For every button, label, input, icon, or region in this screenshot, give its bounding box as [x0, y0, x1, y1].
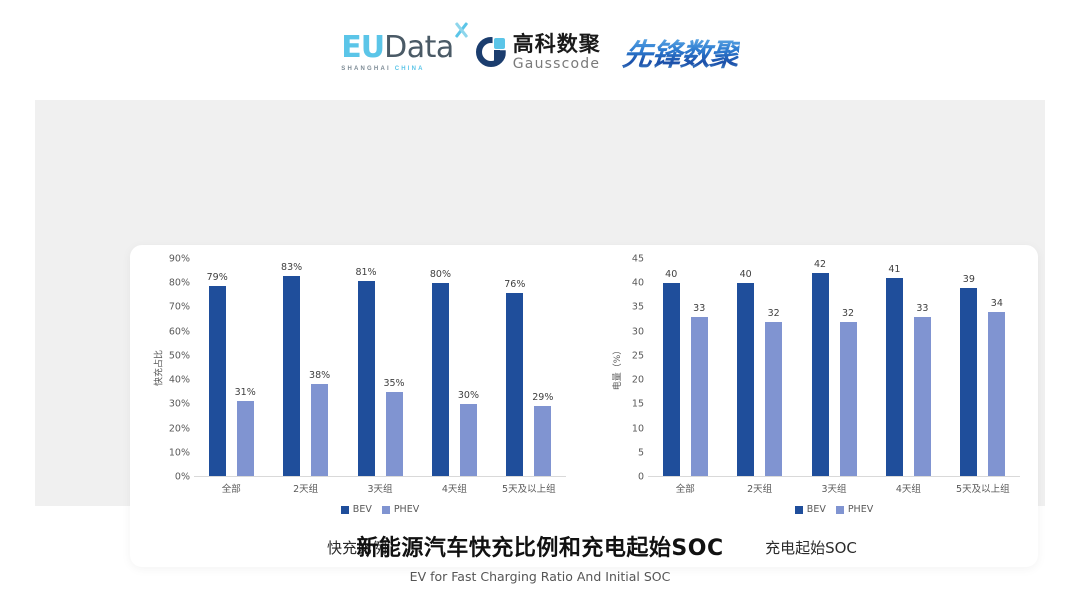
chart-0-legend: BEVPHEV [194, 504, 566, 515]
evdata-tagline-country: CHINA [395, 66, 425, 72]
bar-rect [237, 401, 254, 476]
bar-value-label: 29% [532, 392, 553, 403]
y-axis-tick: 25 [632, 350, 644, 361]
y-axis-tick: 40% [169, 375, 190, 386]
x-axis-tick: 2天组 [722, 481, 796, 495]
bar-value-label: 32 [768, 308, 780, 319]
bar-bev[interactable]: 39 [960, 259, 977, 476]
x-axis-tick: 3天组 [343, 481, 417, 495]
y-axis-tick: 0% [175, 472, 190, 483]
bar-value-label: 76% [504, 279, 525, 290]
bar-phev[interactable]: 32 [840, 259, 857, 476]
bar-value-label: 39 [963, 274, 975, 285]
bar-value-label: 40 [740, 269, 752, 280]
legend-swatch-icon [382, 506, 390, 514]
legend-label: PHEV [394, 504, 419, 515]
bar-rect [386, 392, 403, 476]
bar-phev[interactable]: 35% [386, 259, 403, 476]
page-title: 新能源汽车快充比例和充电起始SOC [0, 530, 1080, 562]
bar-rect [914, 317, 931, 476]
charts-container: 快充占比 90%80%70%60%50%40%30%20%10%0% 79%31… [130, 245, 1038, 567]
bar-group: 4232 [797, 259, 871, 476]
x-axis-tick: 4天组 [871, 481, 945, 495]
y-axis-tick: 35 [632, 302, 644, 313]
charts-card: 快充占比 90%80%70%60%50%40%30%20%10%0% 79%31… [130, 245, 1038, 567]
chart-1-legend: BEVPHEV [648, 504, 1020, 515]
chart-1-x-axis-ticks: 全部2天组3天组4天组5天及以上组 [648, 481, 1020, 495]
y-axis-tick: 15 [632, 399, 644, 410]
bar-rect [988, 312, 1005, 476]
chart-1-plot-area: 电量（%） 454035302520151050 403340324232413… [584, 259, 1038, 477]
evdata-tagline: SHANGHAI CHINA [341, 66, 424, 72]
bar-value-label: 34 [991, 298, 1003, 309]
x-axis-tick: 2天组 [268, 481, 342, 495]
bar-value-label: 33 [916, 303, 928, 314]
bar-group: 4033 [648, 259, 722, 476]
x-axis-tick: 全部 [648, 481, 722, 495]
bar-group: 83%38% [268, 259, 342, 476]
bar-group: 3934 [946, 259, 1020, 476]
bar-phev[interactable]: 30% [460, 259, 477, 476]
y-axis-tick: 10% [169, 447, 190, 458]
bar-value-label: 41 [888, 264, 900, 275]
bar-rect [311, 384, 328, 476]
bar-bev[interactable]: 40 [737, 259, 754, 476]
bar-value-label: 33 [693, 303, 705, 314]
bar-value-label: 38% [309, 370, 330, 381]
bar-phev[interactable]: 33 [914, 259, 931, 476]
bar-value-label: 30% [458, 390, 479, 401]
x-mark-icon [452, 21, 470, 39]
bar-rect [663, 283, 680, 476]
y-axis-tick: 70% [169, 302, 190, 313]
x-axis-tick: 3天组 [797, 481, 871, 495]
bar-rect [812, 273, 829, 476]
gausscode-logo-cn: 高科数聚 [513, 34, 601, 55]
y-axis-tick: 30% [169, 399, 190, 410]
bar-bev[interactable]: 79% [209, 259, 226, 476]
legend-item-bev[interactable]: BEV [341, 504, 372, 515]
chart-0-x-axis-ticks: 全部2天组3天组4天组5天及以上组 [194, 481, 566, 495]
bar-group: 79%31% [194, 259, 268, 476]
bar-rect [432, 283, 449, 476]
bar-rect [506, 293, 523, 476]
bar-bev[interactable]: 80% [432, 259, 449, 476]
bar-bev[interactable]: 83% [283, 259, 300, 476]
gausscode-wordmark: 高科数聚 Gausscode [513, 34, 601, 71]
bar-bev[interactable]: 81% [358, 259, 375, 476]
bar-value-label: 83% [281, 262, 302, 273]
legend-label: BEV [353, 504, 372, 515]
legend-item-phev[interactable]: PHEV [382, 504, 419, 515]
bar-rect [765, 322, 782, 476]
evdata-tagline-city: SHANGHAI [341, 66, 394, 72]
slide-page: EUData SHANGHAI CHINA 高科数聚 Gausscode 先锋数… [0, 0, 1080, 608]
page-subtitle: EV for Fast Charging Ratio And Initial S… [0, 569, 1080, 584]
legend-swatch-icon [836, 506, 844, 514]
legend-swatch-icon [795, 506, 803, 514]
bar-group: 76%29% [492, 259, 566, 476]
chart-1-bars: 40334032423241333934 [648, 259, 1020, 477]
y-axis-tick: 0 [638, 472, 644, 483]
legend-item-phev[interactable]: PHEV [836, 504, 873, 515]
bar-value-label: 81% [355, 267, 376, 278]
evdata-wordmark: EUData [341, 33, 454, 63]
evdata-logo: EUData SHANGHAI CHINA [341, 33, 454, 72]
bar-rect [534, 406, 551, 476]
bar-rect [209, 286, 226, 476]
bar-bev[interactable]: 41 [886, 259, 903, 476]
bar-value-label: 40 [665, 269, 677, 280]
bar-group: 81%35% [343, 259, 417, 476]
bar-value-label: 79% [207, 272, 228, 283]
x-axis-tick: 5天及以上组 [492, 481, 566, 495]
bar-phev[interactable]: 29% [534, 259, 551, 476]
chart-1-y-axis-ticks: 454035302520151050 [606, 259, 644, 477]
bar-phev[interactable]: 32 [765, 259, 782, 476]
evdata-logo-data: Data [384, 33, 454, 63]
y-axis-tick: 10 [632, 423, 644, 434]
bar-rect [840, 322, 857, 476]
gausscode-logo-en: Gausscode [513, 57, 601, 71]
x-axis-tick: 4天组 [417, 481, 491, 495]
footer: 新能源汽车快充比例和充电起始SOC EV for Fast Charging R… [0, 530, 1080, 584]
bar-phev[interactable]: 34 [988, 259, 1005, 476]
chart-0-bars: 79%31%83%38%81%35%80%30%76%29% [194, 259, 566, 477]
chart-fast-charging-ratio: 快充占比 90%80%70%60%50%40%30%20%10%0% 79%31… [130, 245, 584, 567]
legend-swatch-icon [341, 506, 349, 514]
bar-value-label: 32 [842, 308, 854, 319]
bar-group: 4133 [871, 259, 945, 476]
bar-rect [886, 278, 903, 476]
y-axis-tick: 20% [169, 423, 190, 434]
y-axis-tick: 40 [632, 278, 644, 289]
bar-group: 80%30% [417, 259, 491, 476]
content-panel: 快充占比 90%80%70%60%50%40%30%20%10%0% 79%31… [35, 100, 1045, 506]
bar-value-label: 35% [383, 378, 404, 389]
legend-label: BEV [807, 504, 826, 515]
bar-rect [960, 288, 977, 476]
chart-0-y-axis-ticks: 90%80%70%60%50%40%30%20%10%0% [152, 259, 190, 477]
y-axis-tick: 30 [632, 326, 644, 337]
bar-rect [737, 283, 754, 476]
y-axis-tick: 20 [632, 375, 644, 386]
bar-phev[interactable]: 33 [691, 259, 708, 476]
legend-label: PHEV [848, 504, 873, 515]
x-axis-tick: 全部 [194, 481, 268, 495]
xianfeng-logo: 先锋数聚 [620, 30, 741, 74]
y-axis-tick: 45 [632, 254, 644, 265]
y-axis-tick: 90% [169, 254, 190, 265]
bar-rect [283, 276, 300, 476]
logo-strip: EUData SHANGHAI CHINA 高科数聚 Gausscode 先锋数… [0, 24, 1080, 80]
x-axis-tick: 5天及以上组 [946, 481, 1020, 495]
y-axis-tick: 60% [169, 326, 190, 337]
gausscode-mark-icon [476, 37, 506, 67]
bar-rect [691, 317, 708, 476]
gausscode-logo: 高科数聚 Gausscode [476, 34, 601, 71]
y-axis-tick: 5 [638, 447, 644, 458]
y-axis-tick: 80% [169, 278, 190, 289]
bar-group: 4032 [722, 259, 796, 476]
bar-phev[interactable]: 38% [311, 259, 328, 476]
legend-item-bev[interactable]: BEV [795, 504, 826, 515]
bar-rect [358, 281, 375, 476]
chart-initial-soc: 电量（%） 454035302520151050 403340324232413… [584, 245, 1038, 567]
bar-bev[interactable]: 42 [812, 259, 829, 476]
chart-0-plot-area: 快充占比 90%80%70%60%50%40%30%20%10%0% 79%31… [130, 259, 584, 477]
bar-bev[interactable]: 76% [506, 259, 523, 476]
bar-value-label: 31% [235, 387, 256, 398]
evdata-logo-ev: EU [341, 33, 384, 63]
bar-value-label: 42 [814, 259, 826, 270]
y-axis-tick: 50% [169, 350, 190, 361]
bar-rect [460, 404, 477, 476]
bar-bev[interactable]: 40 [663, 259, 680, 476]
bar-phev[interactable]: 31% [237, 259, 254, 476]
bar-value-label: 80% [430, 269, 451, 280]
